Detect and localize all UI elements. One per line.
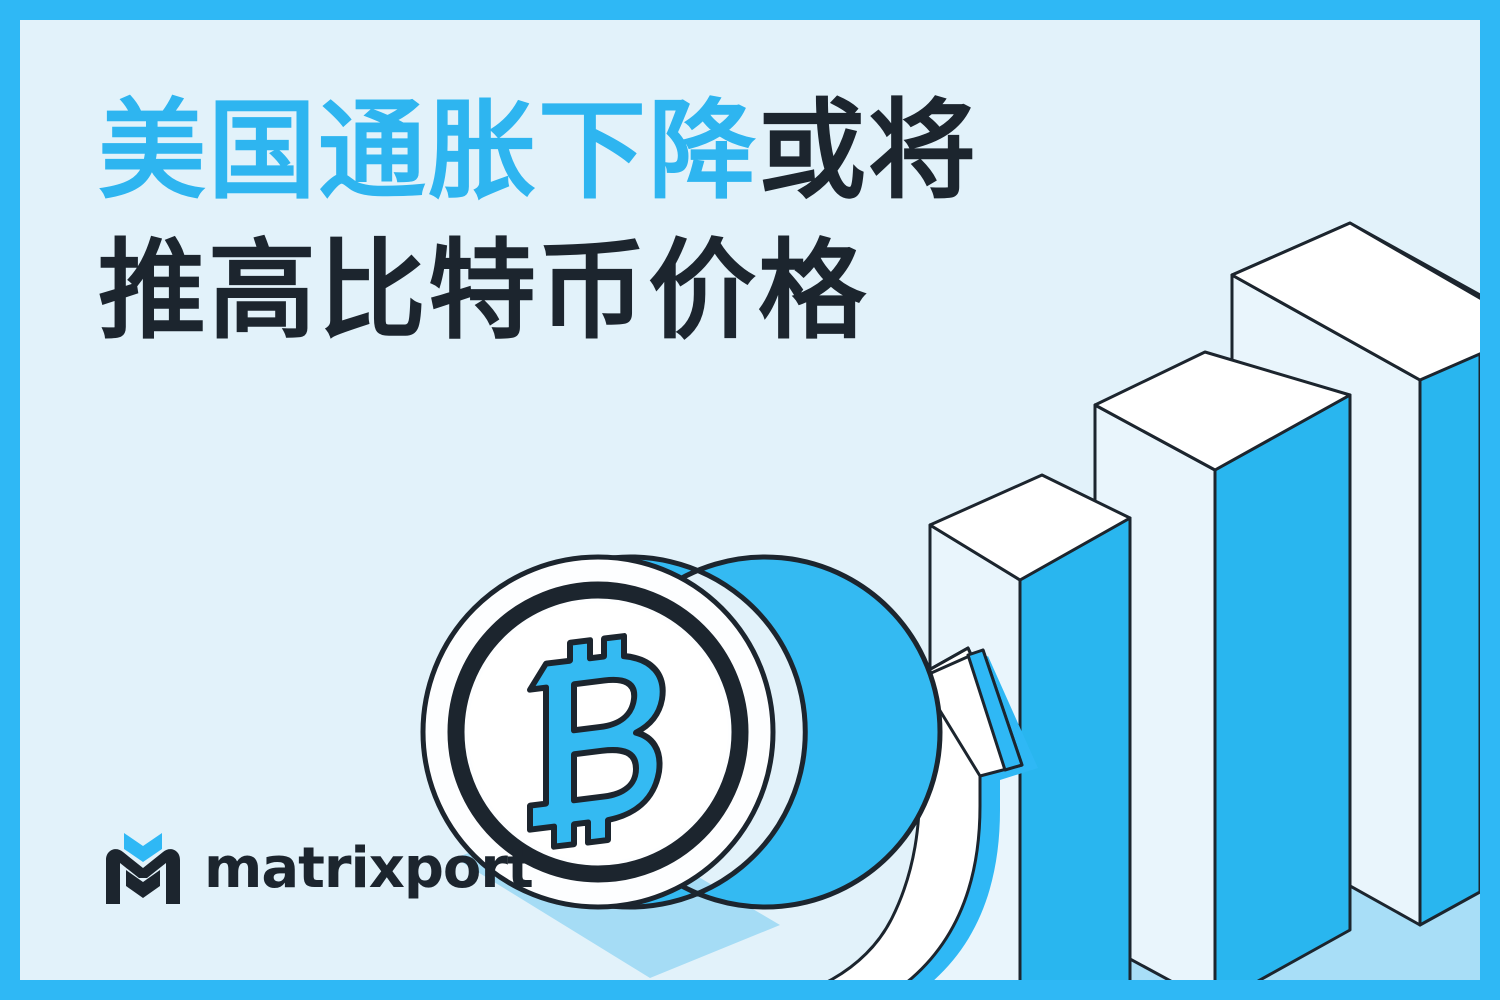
headline-line-1: 美国通胀下降或将	[98, 82, 978, 222]
headline-line-2: 推高比特币价格	[98, 222, 978, 362]
matrixport-m-icon	[102, 830, 184, 908]
poster-inner-panel: 美国通胀下降或将 推高比特币价格 matrixport	[20, 20, 1480, 980]
brand-logo: matrixport	[102, 830, 533, 908]
bitcoin-symbol	[530, 631, 663, 849]
bar-3	[1232, 223, 1480, 925]
headline: 美国通胀下降或将 推高比特币价格	[98, 82, 978, 363]
coin-rim	[598, 557, 940, 907]
headline-dark-text-1: 或将	[758, 89, 978, 214]
bar-1	[930, 475, 1130, 980]
poster-canvas: 美国通胀下降或将 推高比特币价格 matrixport	[0, 0, 1500, 1000]
bar-2	[1095, 352, 1350, 980]
coin-face	[468, 602, 728, 862]
growth-arrow-up	[755, 648, 1038, 980]
brand-wordmark: matrixport	[204, 841, 533, 897]
coin-ridges	[606, 558, 733, 872]
ground-shadows	[455, 725, 1480, 980]
headline-dark-text-2: 推高比特币价格	[98, 229, 868, 354]
headline-accent-text: 美国通胀下降	[98, 89, 758, 214]
